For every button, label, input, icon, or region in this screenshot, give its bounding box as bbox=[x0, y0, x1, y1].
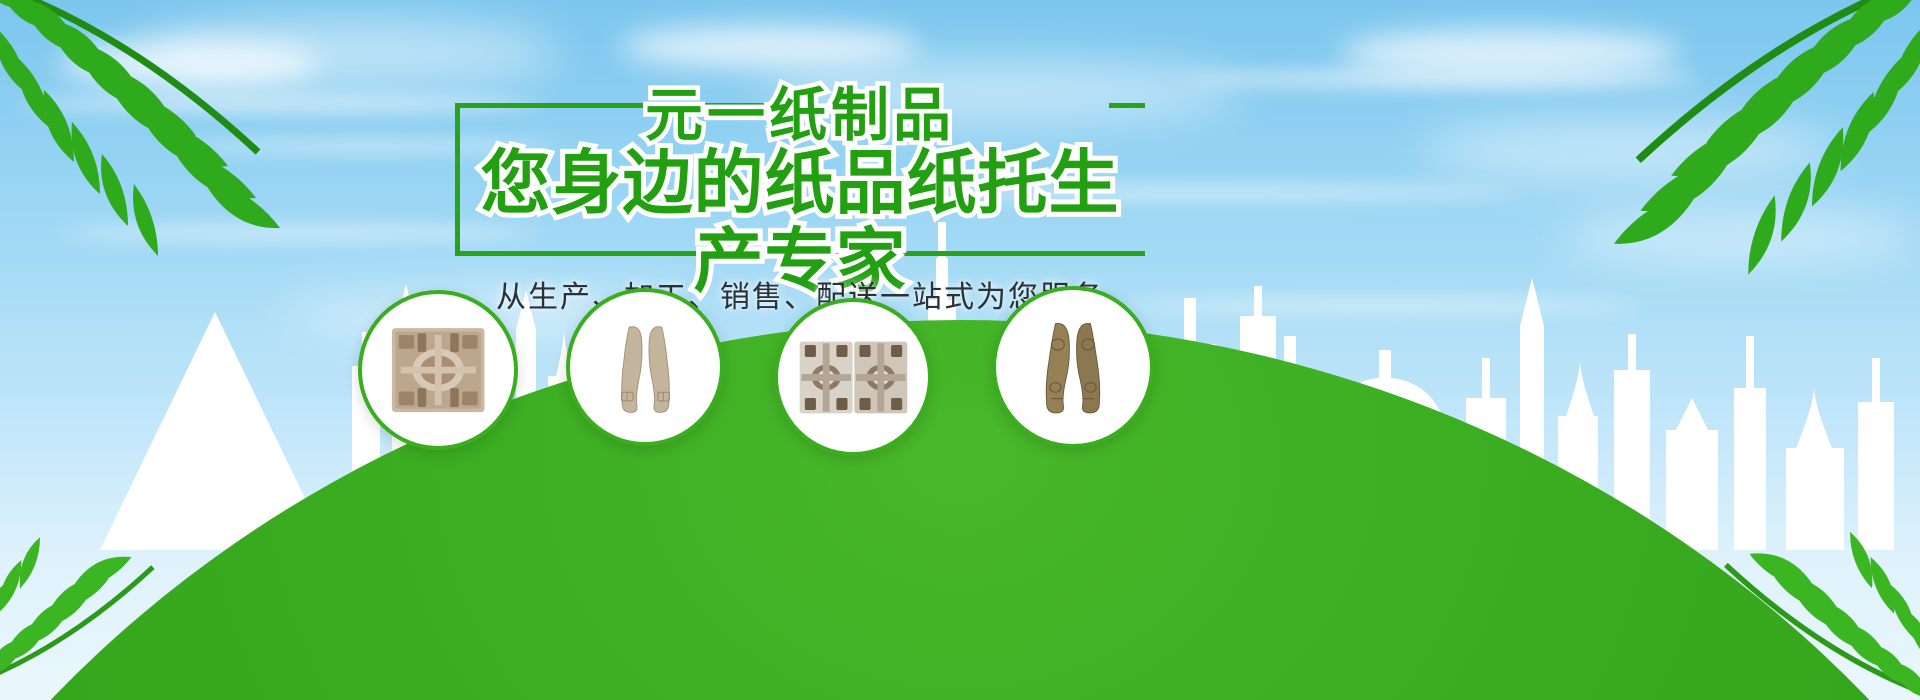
promotional-banner: 元一纸制品 您身边的纸品纸托生产专家 从生产、加工、销售、配送一站式为您服务 bbox=[0, 0, 1920, 700]
molded-pulp-tray-double-icon bbox=[798, 331, 909, 424]
product-circle-molded-pulp-shoe-tree-pair[interactable] bbox=[992, 286, 1154, 448]
product-circle-molded-pulp-insole-pair[interactable] bbox=[566, 288, 724, 446]
headline-line-1: 元一纸制品 bbox=[455, 84, 1145, 146]
molded-pulp-tray-single-icon bbox=[382, 323, 494, 417]
product-circle-molded-pulp-tray-double[interactable] bbox=[774, 298, 932, 456]
headline-line-2: 您身边的纸品纸托生产专家 bbox=[455, 144, 1145, 300]
headline-frame bbox=[455, 103, 1145, 256]
product-showcase bbox=[0, 280, 1920, 700]
product-circle-molded-pulp-tray-single[interactable] bbox=[358, 290, 518, 450]
molded-pulp-shoe-tree-pair-icon bbox=[1016, 319, 1130, 414]
palm-frond-top-left-icon bbox=[0, 0, 380, 270]
palm-frond-top-right-icon bbox=[1500, 0, 1920, 290]
molded-pulp-insole-pair-icon bbox=[590, 321, 701, 414]
